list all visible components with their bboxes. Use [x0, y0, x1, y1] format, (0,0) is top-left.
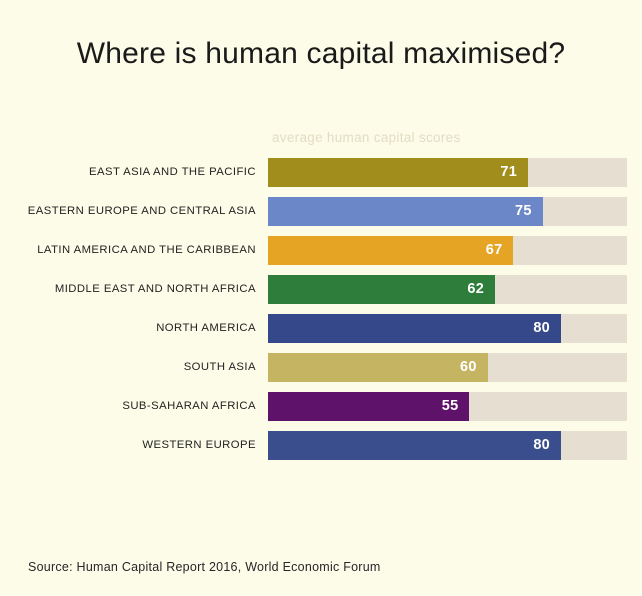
- bar-track: 62: [268, 275, 627, 304]
- bar-row: WESTERN EUROPE 80: [0, 431, 642, 470]
- bar-track: 80: [268, 431, 627, 460]
- category-label: EAST ASIA AND THE PACIFIC: [89, 158, 256, 187]
- bar-track: 71: [268, 158, 627, 187]
- category-label: EASTERN EUROPE AND CENTRAL ASIA: [28, 197, 256, 226]
- bar-fill[interactable]: 80: [268, 431, 561, 460]
- chart-subtitle: average human capital scores: [272, 130, 461, 145]
- bar-value-label: 80: [533, 314, 550, 343]
- bar-track: 60: [268, 353, 627, 382]
- bar-track: 67: [268, 236, 627, 265]
- category-label: MIDDLE EAST AND NORTH AFRICA: [55, 275, 256, 304]
- bar-track: 80: [268, 314, 627, 343]
- category-label: LATIN AMERICA AND THE CARIBBEAN: [37, 236, 256, 265]
- bar-value-label: 75: [515, 197, 532, 226]
- bar-fill[interactable]: 62: [268, 275, 495, 304]
- bar-row: EASTERN EUROPE AND CENTRAL ASIA 75: [0, 197, 642, 236]
- bar-value-label: 55: [442, 392, 459, 421]
- bar-value-label: 71: [500, 158, 517, 187]
- category-label: SOUTH ASIA: [184, 353, 256, 382]
- bar-row: MIDDLE EAST AND NORTH AFRICA 62: [0, 275, 642, 314]
- bar-track: 75: [268, 197, 627, 226]
- category-label: NORTH AMERICA: [156, 314, 256, 343]
- bar-fill[interactable]: 67: [268, 236, 513, 265]
- bar-fill[interactable]: 60: [268, 353, 488, 382]
- page-title: Where is human capital maximised?: [0, 36, 642, 72]
- bar-fill[interactable]: 71: [268, 158, 528, 187]
- category-label: WESTERN EUROPE: [142, 431, 256, 460]
- bar-track: 55: [268, 392, 627, 421]
- bar-row: NORTH AMERICA 80: [0, 314, 642, 353]
- bar-row: SOUTH ASIA 60: [0, 353, 642, 392]
- bar-fill[interactable]: 80: [268, 314, 561, 343]
- bar-fill[interactable]: 75: [268, 197, 543, 226]
- category-label: SUB-SAHARAN AFRICA: [122, 392, 256, 421]
- bar-row: LATIN AMERICA AND THE CARIBBEAN 67: [0, 236, 642, 275]
- source-note: Source: Human Capital Report 2016, World…: [28, 560, 381, 574]
- chart-page: Where is human capital maximised? averag…: [0, 0, 642, 596]
- bar-value-label: 80: [533, 431, 550, 460]
- bar-value-label: 62: [467, 275, 484, 304]
- bar-row: EAST ASIA AND THE PACIFIC 71: [0, 158, 642, 197]
- bar-row: SUB-SAHARAN AFRICA 55: [0, 392, 642, 431]
- bar-fill[interactable]: 55: [268, 392, 469, 421]
- bar-value-label: 67: [486, 236, 503, 265]
- bar-chart-plot: EAST ASIA AND THE PACIFIC 71 EASTERN EUR…: [0, 158, 642, 470]
- bar-value-label: 60: [460, 353, 477, 382]
